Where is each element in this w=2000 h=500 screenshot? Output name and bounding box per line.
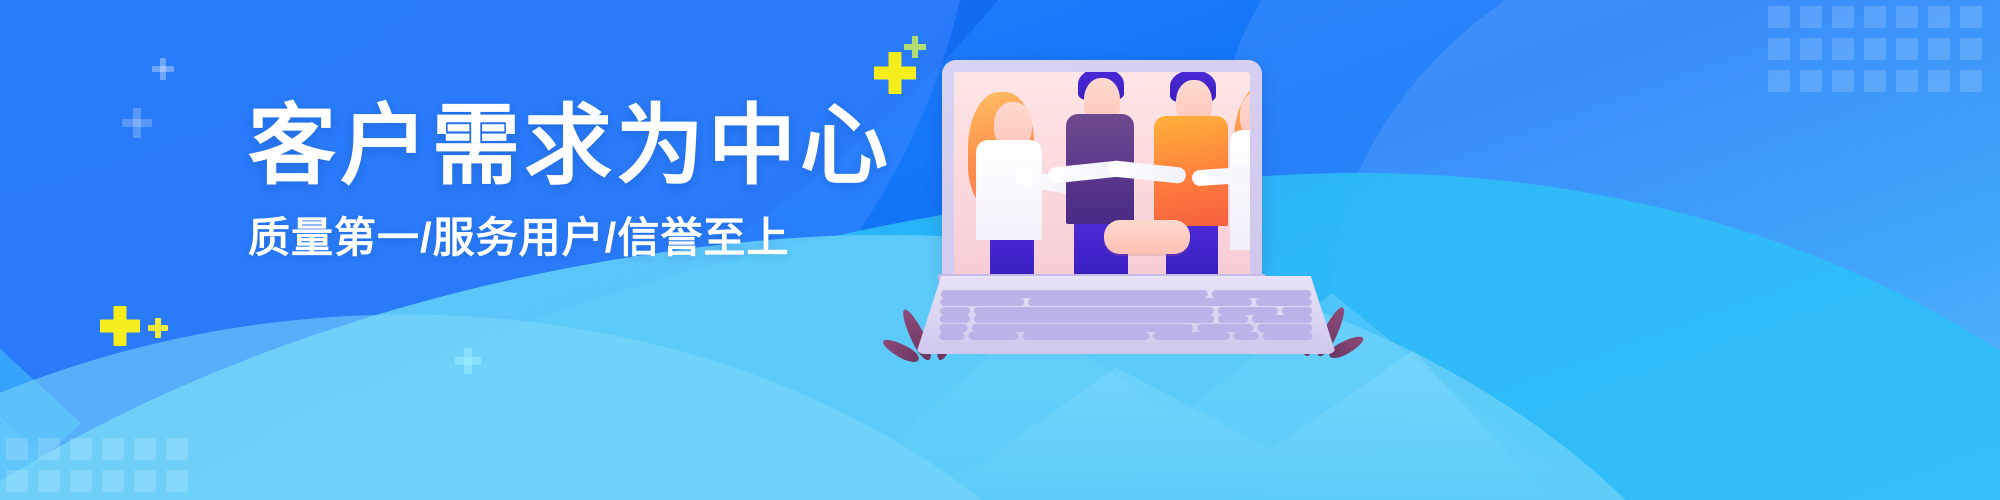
keyboard-row (939, 332, 1313, 340)
plus-icon-yellow-small-top (904, 36, 926, 58)
headline-block: 客户需求为中心 质量第一/服务用户/信誉至上 (248, 100, 808, 263)
laptop-illustration (916, 60, 1336, 360)
stacked-hands (1104, 220, 1190, 254)
square-grid-top-right (1768, 6, 1982, 92)
promotional-banner: 客户需求为中心 质量第一/服务用户/信誉至上 (0, 0, 2000, 500)
torso (1230, 130, 1250, 250)
plus-icon-white-soft-lower (122, 108, 152, 138)
legs (1238, 246, 1250, 276)
banner-subtitle: 质量第一/服务用户/信誉至上 (248, 214, 808, 262)
person-woman-orange-hair-white-blazer (964, 78, 1056, 276)
plus-icon-cyan-soft-bottom (455, 348, 481, 374)
keyboard-row (940, 307, 1312, 315)
keyboard-row (941, 290, 1312, 298)
keyboard-row (940, 298, 1311, 306)
laptop-screen (954, 72, 1250, 276)
banner-headline: 客户需求为中心 (248, 100, 808, 192)
person-woman-long-orange-hair-white-dress (1218, 72, 1250, 276)
plus-icon-yellow-small-bottom-left (148, 318, 168, 338)
square-grid-bottom-left (6, 438, 188, 492)
plus-icon-yellow-large-bottom-left (100, 306, 140, 346)
torso (976, 140, 1042, 240)
laptop-keyboard (929, 286, 1323, 344)
plus-icon-yellow-large-top (874, 52, 916, 94)
keyboard-row (939, 324, 1312, 332)
keyboard-row (940, 315, 1313, 323)
plus-icon-white-soft-upper (152, 58, 174, 80)
laptop-lid (942, 60, 1262, 282)
